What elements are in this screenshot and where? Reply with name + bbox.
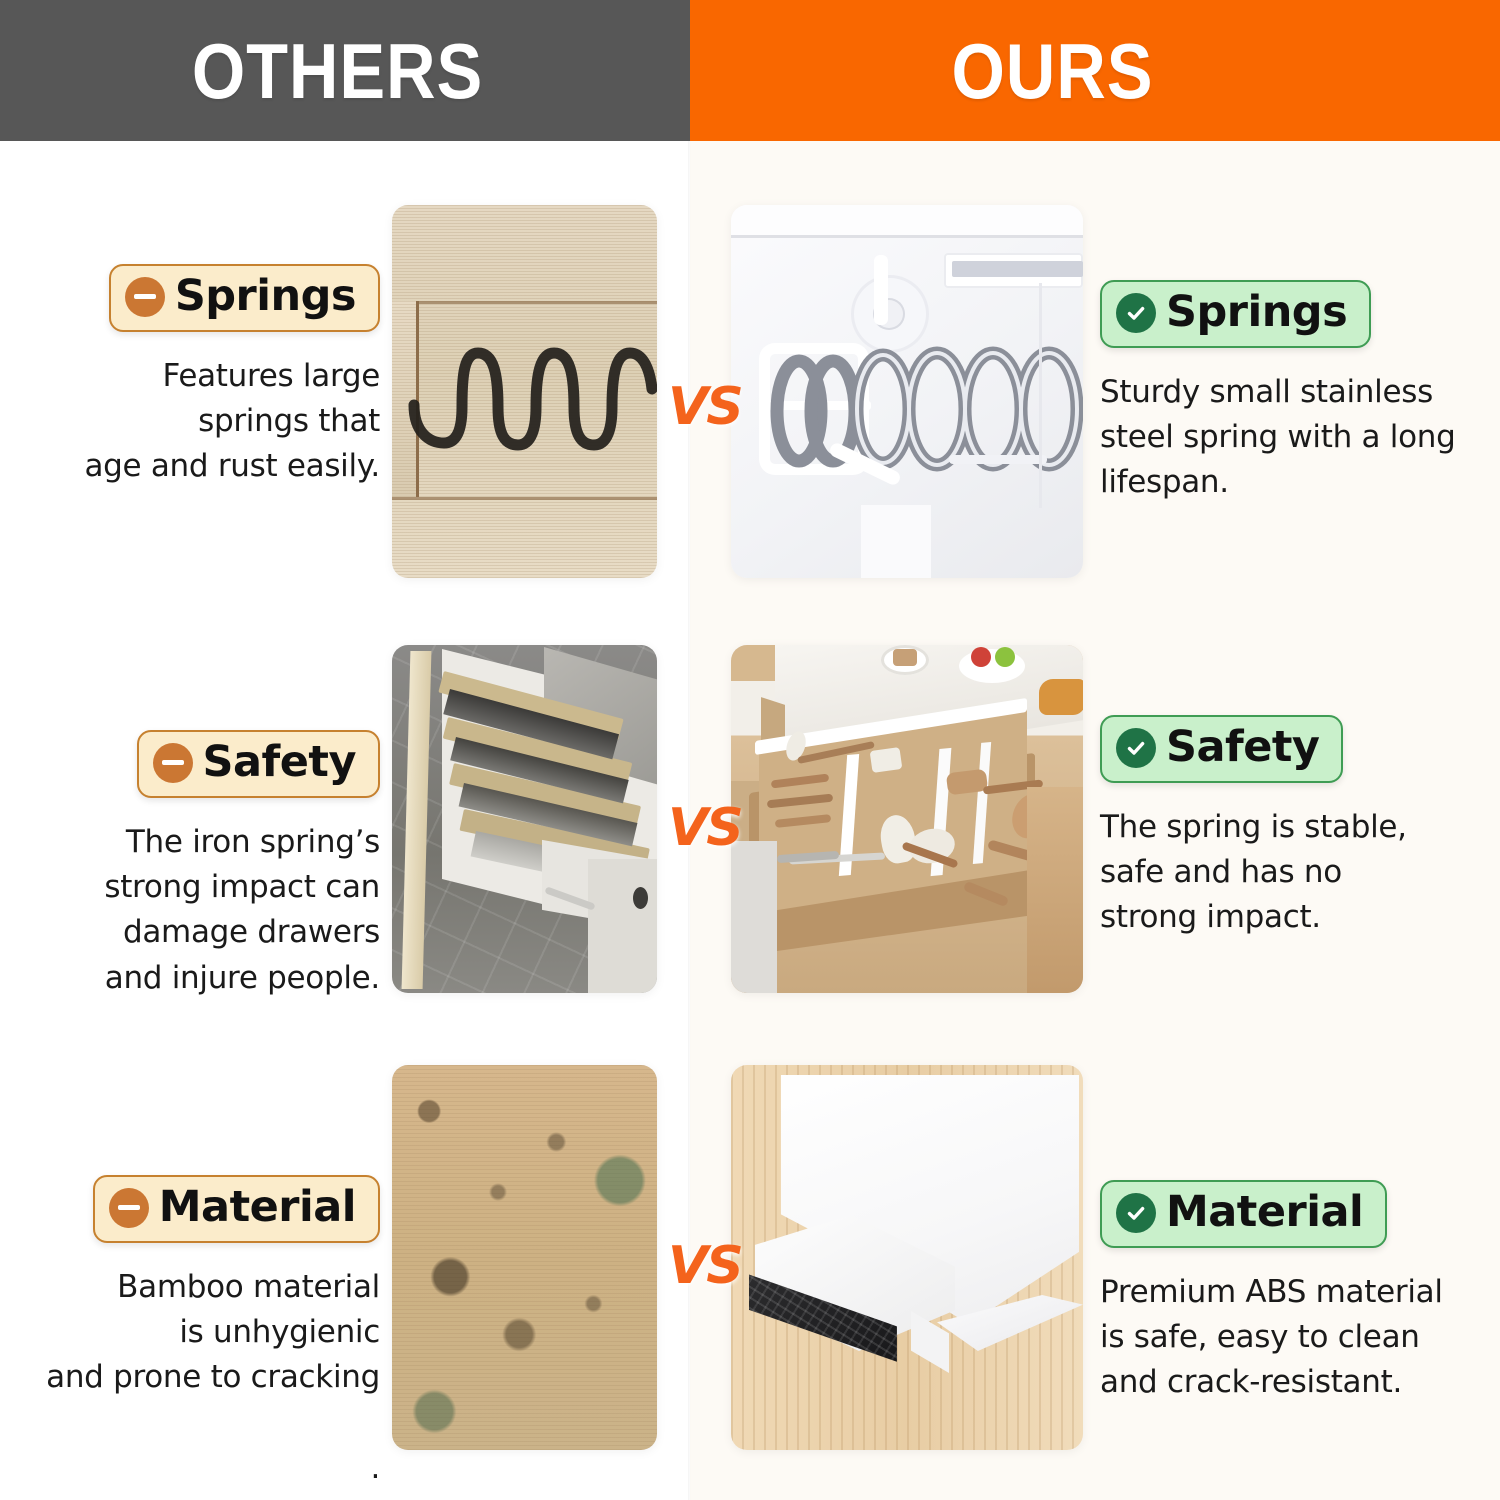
others-safety-badge: Safety (137, 730, 380, 798)
others-material-text-column: Material Bamboo material is unhygienic a… (30, 1175, 380, 1491)
comparison-infographic: OTHERS OURS Springs Features large sprin… (0, 0, 1500, 1500)
ours-safety-description: The spring is stable, safe and has no st… (1100, 805, 1480, 941)
minus-circle-icon (125, 277, 165, 317)
others-safety-photo (392, 645, 657, 993)
others-springs-description: Features large springs that age and rust… (30, 354, 380, 490)
ours-springs-description: Sturdy small stainless steel spring with… (1100, 370, 1480, 506)
header-bar: OTHERS OURS (0, 0, 1500, 141)
ours-safety-badge: Safety (1100, 715, 1343, 783)
others-safety-badge-label: Safety (203, 741, 356, 785)
ours-safety-text-column: Safety The spring is stable, safe and ha… (1100, 715, 1480, 941)
header-ours-title: OURS (952, 32, 1154, 110)
others-springs-badge: Springs (109, 264, 380, 332)
vs-label-material: VS (668, 1236, 742, 1296)
ours-material-badge: Material (1100, 1180, 1387, 1248)
ours-safety-photo (731, 645, 1083, 993)
ours-springs-photo (731, 205, 1083, 578)
comparison-row-material: Material Bamboo material is unhygienic a… (0, 1040, 1500, 1460)
others-springs-badge-label: Springs (175, 275, 356, 319)
ours-springs-badge: Springs (1100, 280, 1371, 348)
check-circle-icon (1116, 1193, 1156, 1233)
minus-circle-icon (153, 743, 193, 783)
ours-springs-badge-label: Springs (1166, 291, 1347, 335)
ours-springs-text-column: Springs Sturdy small stainless steel spr… (1100, 280, 1480, 506)
minus-circle-icon (109, 1188, 149, 1228)
comparison-row-safety: Safety The iron spring’s strong impact c… (0, 620, 1500, 1010)
others-springs-text-column: Springs Features large springs that age … (30, 264, 380, 490)
header-others-title: OTHERS (192, 32, 483, 110)
ours-safety-badge-label: Safety (1166, 726, 1319, 770)
ours-material-photo (731, 1065, 1083, 1450)
header-ours: OURS (690, 0, 1500, 141)
check-circle-icon (1116, 728, 1156, 768)
comparison-row-springs: Springs Features large springs that age … (0, 180, 1500, 600)
others-material-description: Bamboo material is unhygienic and prone … (30, 1265, 380, 1491)
ours-material-text-column: Material Premium ABS material is safe, e… (1100, 1180, 1480, 1406)
ours-material-badge-label: Material (1166, 1191, 1363, 1235)
others-safety-description: The iron spring’s strong impact can dama… (30, 820, 380, 1001)
vs-label-springs: VS (668, 377, 742, 437)
others-springs-photo (392, 205, 657, 578)
check-circle-icon (1116, 293, 1156, 333)
header-others: OTHERS (0, 0, 690, 141)
others-material-badge: Material (93, 1175, 380, 1243)
ours-material-description: Premium ABS material is safe, easy to cl… (1100, 1270, 1480, 1406)
others-material-badge-label: Material (159, 1186, 356, 1230)
others-safety-text-column: Safety The iron spring’s strong impact c… (30, 730, 380, 1001)
others-material-photo (392, 1065, 657, 1450)
vs-label-safety: VS (668, 798, 742, 858)
